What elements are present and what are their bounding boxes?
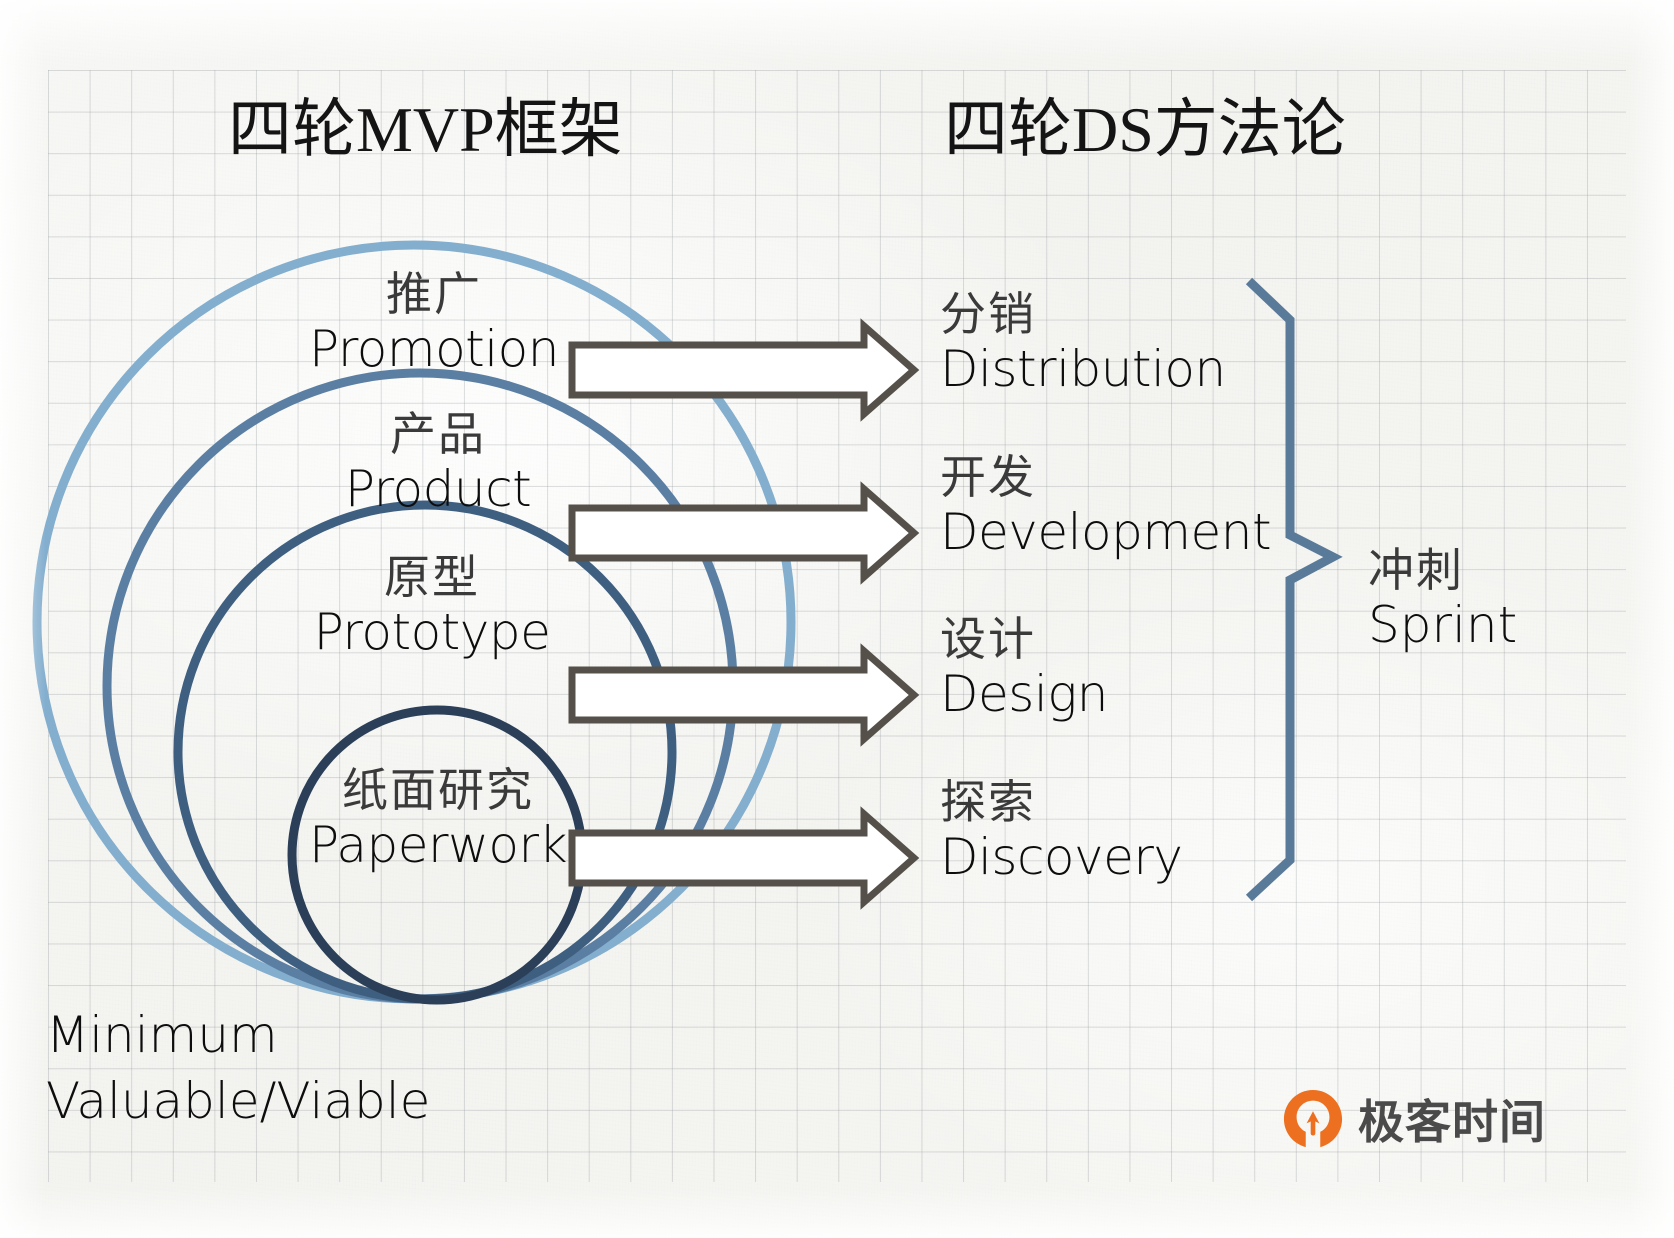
brand-logo: 极客时间 <box>1282 1086 1546 1152</box>
ring-label-prototype-en: Prototype <box>266 607 598 657</box>
stage-label-design-en: Design <box>940 669 1108 719</box>
stage-label-discovery-en: Discovery <box>940 832 1183 882</box>
stage-label-discovery-cn: 探索 <box>940 780 1183 826</box>
stage-label-development-en: Development <box>940 507 1271 557</box>
stage-label-design-cn: 设计 <box>940 617 1108 663</box>
stage-label-design: 设计 Design <box>940 617 1108 719</box>
stage-label-development: 开发 Development <box>940 455 1271 557</box>
mvp-expansion-caption: Minimum Valuable/Viable <box>46 1002 430 1134</box>
ring-label-paperwork-cn: 纸面研究 <box>272 768 604 814</box>
ring-label-product-cn: 产品 <box>272 412 604 458</box>
stage-label-distribution-en: Distribution <box>940 344 1226 394</box>
left-panel-title: 四轮MVP框架 <box>228 78 623 170</box>
ring-label-promotion-cn: 推广 <box>268 272 600 318</box>
stage-label-development-cn: 开发 <box>940 455 1271 501</box>
ring-label-paperwork: 纸面研究 Paperwork <box>272 768 604 870</box>
sprint-label-en: Sprint <box>1368 600 1517 650</box>
ring-label-paperwork-en: Paperwork <box>272 820 604 870</box>
slide-canvas: 四轮MVP框架 四轮DS方法论 推广 Promotion 产品 Product … <box>0 0 1674 1238</box>
ring-label-promotion: 推广 Promotion <box>268 272 600 374</box>
stage-label-discovery: 探索 Discovery <box>940 780 1183 882</box>
ring-label-product: 产品 Product <box>272 412 604 514</box>
ring-label-prototype-cn: 原型 <box>266 555 598 601</box>
brand-name: 极客时间 <box>1358 1086 1546 1152</box>
sprint-label: 冲刺 Sprint <box>1368 548 1517 650</box>
stage-label-distribution: 分销 Distribution <box>940 292 1226 394</box>
ring-label-prototype: 原型 Prototype <box>266 555 598 657</box>
mvp-caption-line-2: Valuable/Viable <box>46 1068 430 1134</box>
sprint-bracket-icon <box>1249 281 1333 898</box>
mvp-caption-line-1: Minimum <box>46 1002 430 1068</box>
ring-label-product-en: Product <box>272 464 604 514</box>
ring-label-promotion-en: Promotion <box>268 324 600 374</box>
sprint-label-cn: 冲刺 <box>1368 548 1517 594</box>
geekbang-logo-icon <box>1282 1088 1344 1150</box>
stage-label-distribution-cn: 分销 <box>940 292 1226 338</box>
right-panel-title: 四轮DS方法论 <box>944 78 1346 170</box>
